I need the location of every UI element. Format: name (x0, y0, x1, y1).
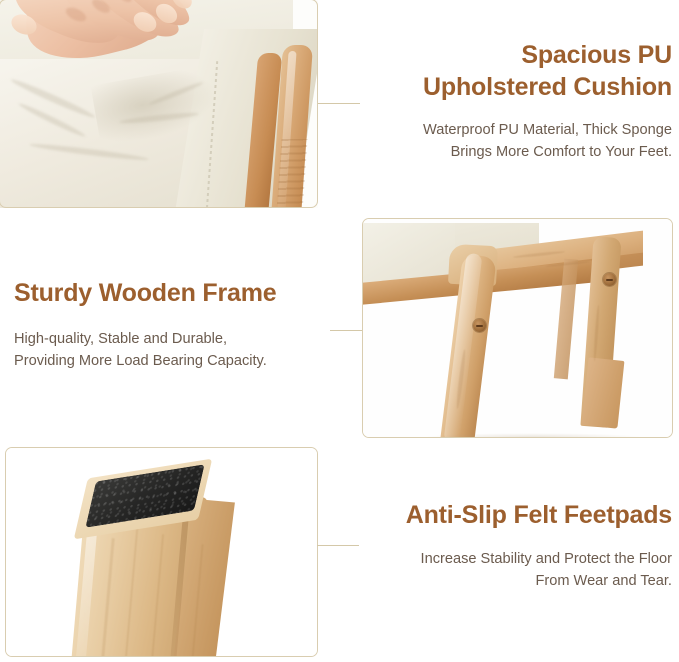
body-line-2: Brings More Comfort to Your Feet. (451, 144, 672, 160)
feature-body-feetpads: Increase Stability and Protect the Floor… (352, 548, 672, 592)
feature-body-frame: High-quality, Stable and Durable, Provid… (14, 328, 326, 372)
feature-heading-frame: Sturdy Wooden Frame (14, 278, 326, 310)
frame-photo (363, 219, 672, 437)
feature-text-frame: Sturdy Wooden Frame High-quality, Stable… (14, 278, 326, 372)
connector-line-frame (330, 330, 362, 331)
feature-text-feetpads: Anti-Slip Felt Feetpads Increase Stabili… (352, 500, 672, 592)
feature-body-cushion: Waterproof PU Material, Thick Sponge Bri… (352, 119, 672, 163)
feature-heading-cushion: Spacious PU Upholstered Cushion (352, 40, 672, 103)
hand-pressing-cushion (5, 0, 197, 115)
infographic-canvas: Spacious PU Upholstered Cushion Waterpro… (0, 0, 679, 662)
body-line-1: High-quality, Stable and Durable, (14, 331, 227, 347)
feature-image-frame (362, 218, 673, 438)
body-line-1: Increase Stability and Protect the Floor (421, 551, 672, 567)
heading-line-2: Upholstered Cushion (423, 73, 672, 101)
body-line-1: Waterproof PU Material, Thick Sponge (423, 122, 672, 138)
feature-text-cushion: Spacious PU Upholstered Cushion Waterpro… (352, 40, 672, 163)
body-line-2: From Wear and Tear. (535, 573, 672, 589)
heading-line-1: Spacious PU (521, 41, 672, 69)
cushion-photo (0, 0, 318, 208)
body-line-2: Providing More Load Bearing Capacity. (14, 353, 267, 369)
feature-image-feetpads (5, 447, 318, 657)
feature-heading-feetpads: Anti-Slip Felt Feetpads (352, 500, 672, 532)
feetpad-photo (6, 448, 317, 656)
screw-front-leg (473, 319, 486, 332)
screw-back-leg (603, 273, 616, 286)
feature-image-cushion (0, 0, 318, 208)
